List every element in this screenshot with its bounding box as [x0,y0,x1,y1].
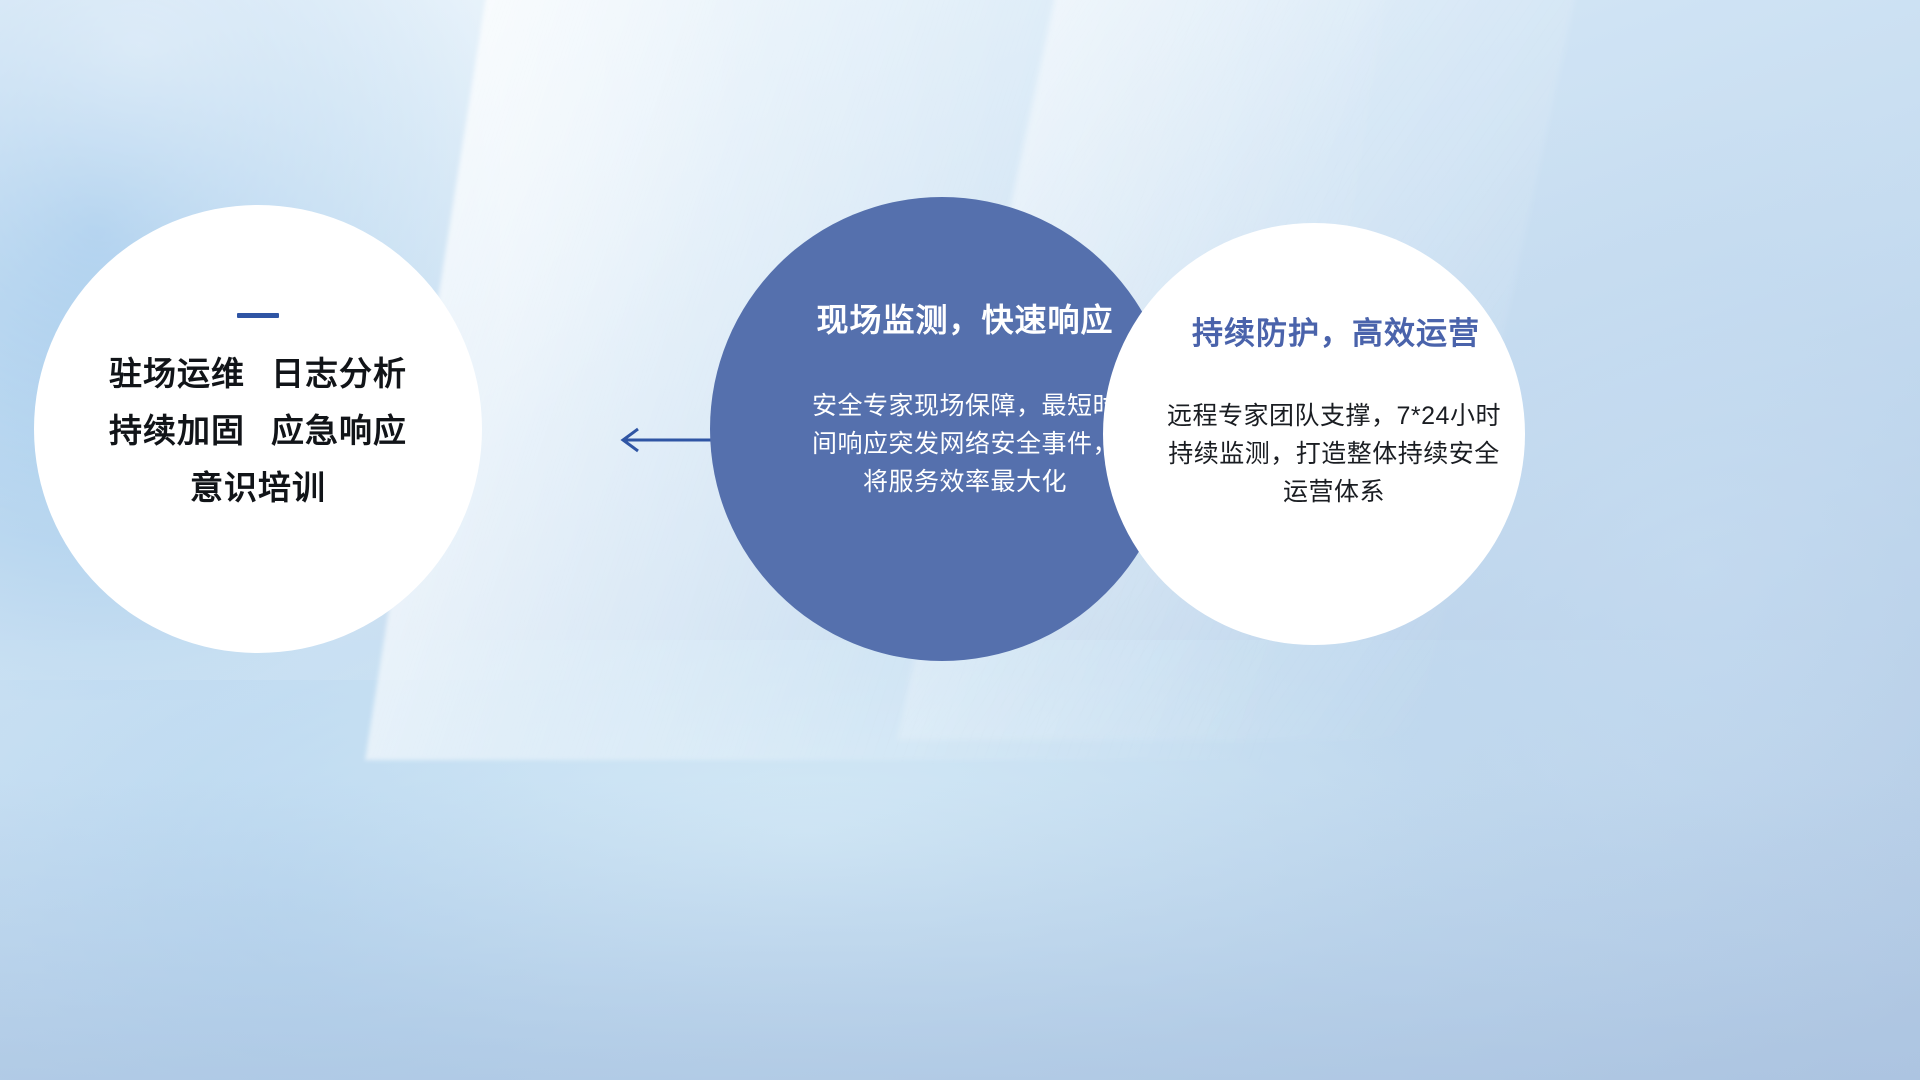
mid-circle-body: 安全专家现场保障，最短时间响应突发网络安全事件，将服务效率最大化 [800,387,1130,501]
keyword-zhuchang-yunwei: 驻场运维 [109,355,245,392]
keyword-chixu-jiagu: 持续加固 [109,412,245,449]
left-circle-keyword-list: 驻场运维日志分析 持续加固应急响应 意识培训 [109,356,407,507]
right-circle-card[interactable]: 持续防护，高效运营 远程专家团队支撑，7*24小时持续监测，打造整体持续安全运营… [1103,223,1525,645]
background-bottom-vignette [0,780,1920,1080]
left-circle-card[interactable]: 驻场运维日志分析 持续加固应急响应 意识培训 [34,205,482,653]
slide-canvas: 现场监测，快速响应 安全专家现场保障，最短时间响应突发网络安全事件，将服务效率最… [0,0,1920,1080]
keyword-yishi-peixun: 意识培训 [190,469,326,506]
left-circle-line-1: 驻场运维日志分析 [109,356,407,393]
left-circle-line-3: 意识培训 [190,470,326,507]
left-circle-line-2: 持续加固应急响应 [109,413,407,450]
keyword-yingji-xiangying: 应急响应 [271,412,407,449]
right-circle-body: 远程专家团队支撑，7*24小时持续监测，打造整体持续安全运营体系 [1156,397,1512,511]
keyword-rizhi-fenxi: 日志分析 [271,355,407,392]
left-circle-divider [237,313,279,318]
mid-circle-title: 现场监测，快速响应 [816,295,1113,341]
right-circle-title: 持续防护，高效运营 [1192,308,1480,353]
